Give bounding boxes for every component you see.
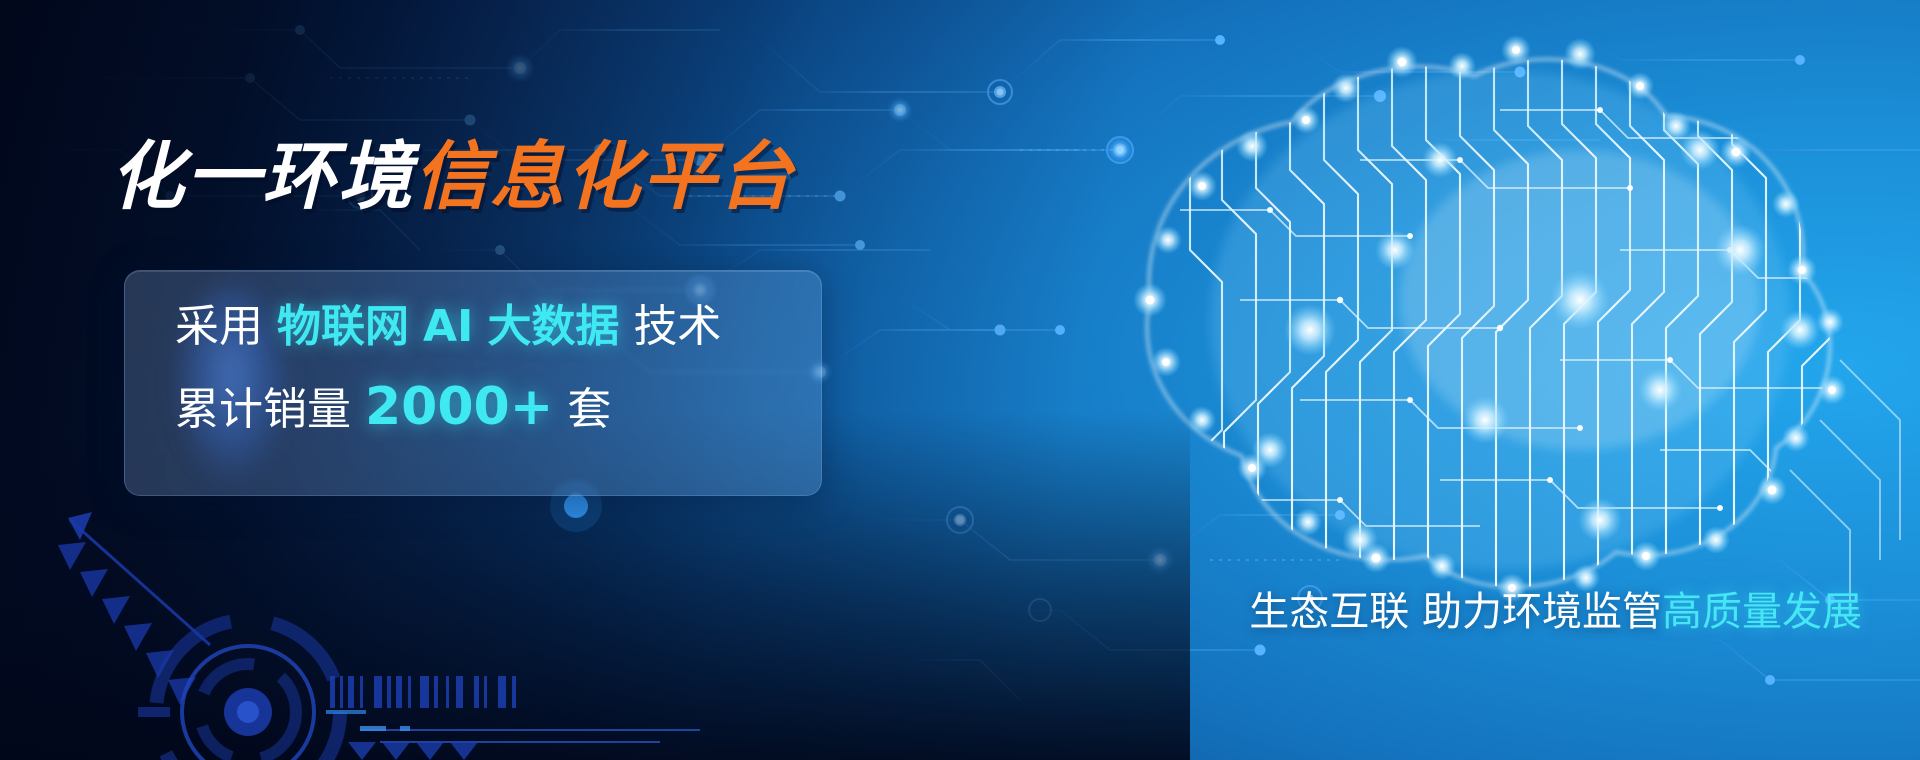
circuit-brain-illustration	[940, 0, 1920, 620]
card-line2-suffix: 套	[567, 384, 611, 435]
barcode-stripe-decoration	[330, 676, 516, 708]
card-highlight-ai: AI	[423, 301, 473, 352]
tagline-highlight-part: 高质量发展	[1662, 589, 1862, 635]
page-title: 化一环境信息化平台	[110, 140, 794, 214]
card-line1-prefix: 采用	[175, 301, 263, 352]
card-line1-suffix: 技术	[633, 301, 721, 352]
card-line2-prefix: 累计销量	[175, 384, 351, 435]
tagline: 生态互联 助力环境监管高质量发展	[1249, 588, 1862, 636]
title-white-part: 化一环境	[110, 134, 414, 220]
card-sales-number: 2000+	[365, 377, 553, 437]
title-orange-part: 信息化平台	[414, 134, 794, 220]
promo-banner: 化一环境信息化平台 采用 物联网 AI 大数据 技术 累计销量 2000+ 套 …	[0, 0, 1920, 760]
diagonal-arrow-decoration	[58, 512, 210, 705]
card-line-technology: 采用 物联网 AI 大数据 技术	[175, 305, 793, 349]
hud-circle	[138, 620, 366, 760]
card-highlight-iot: 物联网	[277, 301, 409, 352]
info-card: 采用 物联网 AI 大数据 技术 累计销量 2000+ 套	[124, 270, 822, 496]
card-highlight-bigdata: 大数据	[487, 301, 619, 352]
card-line-sales: 累计销量 2000+ 套	[175, 381, 793, 433]
tagline-white-part: 生态互联 助力环境监管	[1249, 589, 1662, 635]
